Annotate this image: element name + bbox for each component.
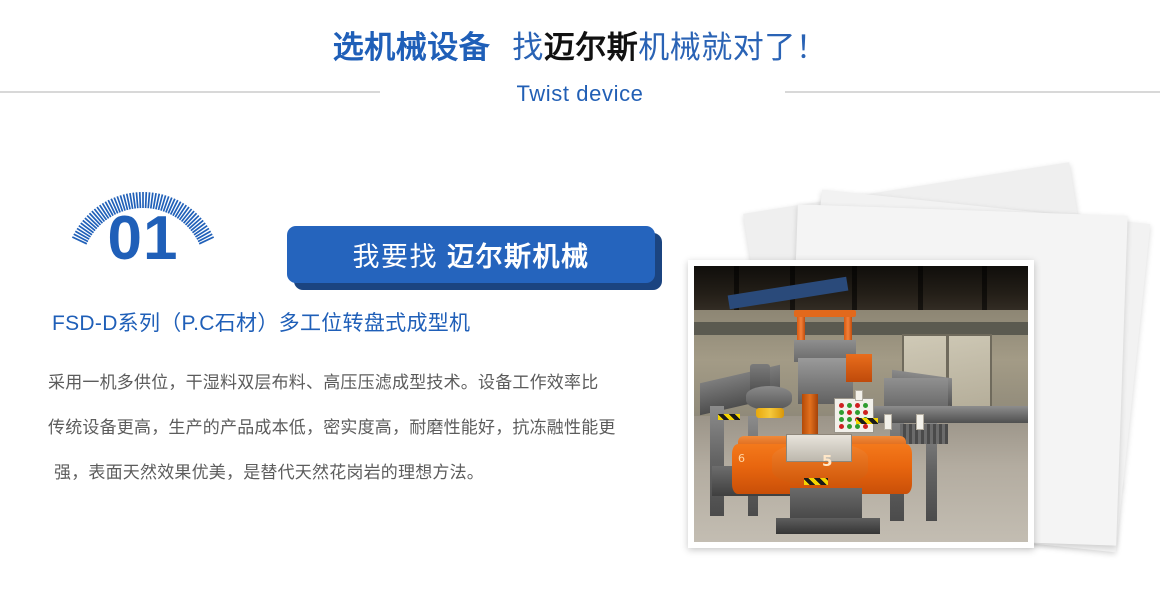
subtitle-row: Twist device (0, 80, 1160, 114)
page-header: 选机械设备找迈尔斯机械就对了！ Twist device (0, 0, 1160, 130)
photo-warning-tag (916, 414, 924, 430)
photo-warning-tag (855, 390, 863, 401)
photo-station-label-5: 5 (822, 452, 832, 470)
photo-yellow-rollers (756, 408, 784, 418)
description-line-2: 传统设备更高，生产的产品成本低，密实度高，耐磨性能好，抗冻融性能更 (48, 405, 673, 450)
description-line-1: 采用一机多供位，干湿料双层布料、高压压滤成型技术。设备工作效率比 (48, 360, 673, 405)
photo-control-panel (834, 398, 874, 433)
find-maiersi-button[interactable]: 我要找 迈尔斯机械 (287, 226, 655, 283)
photo-warning-tag (884, 414, 892, 430)
photo-machine-base-wide (776, 518, 880, 534)
headline-part-2: 找 (512, 30, 544, 65)
step-badge: 01 (48, 172, 238, 300)
product-photo-frame: 6 5 (688, 260, 1034, 548)
step-number: 01 (48, 204, 238, 274)
product-title: FSD-D系列（P.C石材）多工位转盘式成型机 (52, 309, 470, 339)
photo-hazard-stripe (856, 418, 878, 424)
cta-lead: 我要找 (352, 242, 438, 272)
headline-part-1: 选机械设备 (333, 30, 491, 65)
photo-left-column (710, 406, 724, 516)
photo-hazard-stripe (804, 478, 828, 485)
product-description: 采用一机多供位，干湿料双层布料、高压压滤成型技术。设备工作效率比 传统设备更高，… (48, 360, 673, 495)
photo-hazard-stripe (718, 414, 740, 420)
photo-drum (746, 386, 792, 410)
photo-orange-unit (846, 354, 872, 382)
description-line-3: 强，表面天然效果优美，是替代天然花岗岩的理想方法。 (48, 450, 673, 495)
photo-mold-plate (786, 434, 852, 462)
headline-part-4: 机械就对了！ (638, 30, 827, 65)
photo-press-crown (794, 310, 856, 317)
cta-brand: 迈尔斯机械 (447, 242, 590, 272)
photo-stack: 6 5 (672, 178, 1160, 578)
headline: 选机械设备找迈尔斯机械就对了！ (0, 27, 1160, 69)
subtitle: Twist device (0, 80, 1160, 108)
headline-brand: 迈尔斯 (544, 30, 639, 65)
photo-conveyor (900, 424, 948, 444)
photo-control-panel-dots (835, 399, 873, 433)
cta-button-label: 我要找 迈尔斯机械 (352, 235, 589, 274)
product-photo: 6 5 (694, 266, 1028, 542)
photo-station-label-6: 6 (738, 452, 745, 465)
